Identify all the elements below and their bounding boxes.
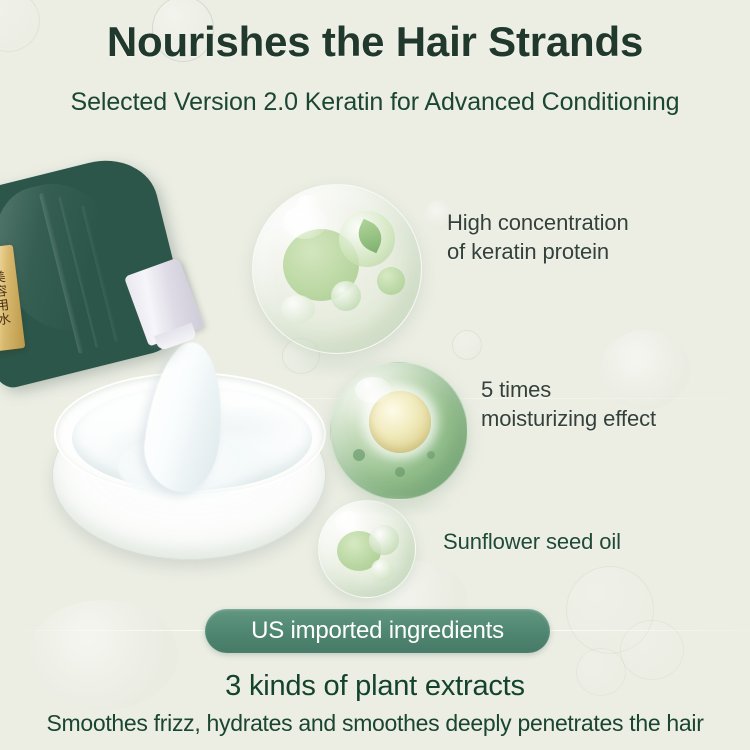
feature-line-1: Sunflower seed oil — [443, 527, 621, 556]
feature-line-2: of keratin protein — [447, 237, 629, 266]
footer-headline: 3 kinds of plant extracts — [0, 670, 750, 703]
feature-line-1: 5 times — [481, 375, 656, 404]
pouch-fold — [81, 205, 119, 342]
pouch-label-text: 美容用水 — [0, 270, 10, 327]
feature-label-moisture: 5 times moisturizing effect — [481, 375, 656, 433]
bubble-inner-blob — [339, 211, 395, 267]
background-bubble-ring — [452, 330, 482, 360]
bubble-highlight — [335, 511, 363, 531]
pouch-fold — [39, 193, 84, 354]
feature-label-keratin: High concentration of keratin protein — [447, 208, 629, 266]
pouch-fold — [58, 197, 98, 348]
feature-label-sunflower: Sunflower seed oil — [443, 527, 621, 556]
bubble-inner-blob — [331, 281, 361, 311]
page-title: Nourishes the Hair Strands — [0, 18, 750, 66]
ingredient-bubble-moisture — [330, 362, 468, 500]
footer-subtext: Smoothes frizz, hydrates and smoothes de… — [0, 710, 750, 737]
bubble-highlight — [297, 195, 319, 211]
pouch-brand-label: 美容用水 — [0, 245, 25, 353]
bubble-inner-blob — [427, 451, 435, 459]
ingredient-bubble-keratin — [252, 184, 422, 354]
bubble-inner-blob — [337, 531, 381, 571]
background-bubble-ring — [566, 566, 654, 654]
ingredient-bubble-sunflower — [318, 500, 416, 598]
spout-tip — [154, 323, 197, 352]
bubble-highlight — [283, 205, 327, 239]
petri-dish — [52, 372, 324, 572]
bubble-core — [369, 391, 431, 453]
bubble-inner-blob — [371, 559, 393, 581]
page-subtitle: Selected Version 2.0 Keratin for Advance… — [0, 88, 750, 117]
bubble-inner-blob — [281, 295, 315, 323]
bubble-inner-blob — [369, 525, 399, 555]
feature-line-2: moisturizing effect — [481, 404, 656, 433]
status-badge: US imported ingredients — [205, 609, 550, 653]
product-marketing-poster: Nourishes the Hair Strands Selected Vers… — [0, 0, 750, 750]
bubble-inner-blob — [283, 229, 359, 301]
bubble-inner-blob — [353, 449, 365, 461]
feature-line-1: High concentration — [447, 208, 629, 237]
bubble-inner-blob — [395, 467, 405, 477]
bubble-inner-blob — [377, 267, 405, 295]
leaf-icon — [353, 219, 388, 254]
badge-label: US imported ingredients — [251, 617, 504, 645]
